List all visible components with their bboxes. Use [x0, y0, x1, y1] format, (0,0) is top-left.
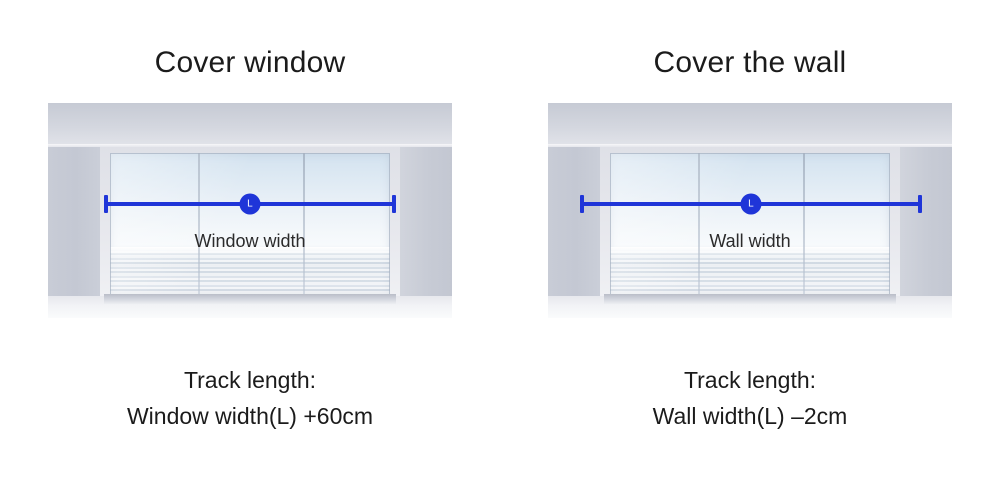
window-mullion	[198, 153, 200, 301]
panel-cover-the-wall: Cover the wall L Wall width	[500, 0, 1000, 500]
dimension-endcap-right	[918, 195, 922, 213]
dimension-label-window-width: Window width	[48, 231, 452, 252]
room-illustration-cover-window: L Window width	[48, 103, 452, 318]
window-glazing	[610, 153, 890, 301]
dimension-endcap-left	[104, 195, 108, 213]
dimension-endcap-right	[392, 195, 396, 213]
caption-cover-the-wall: Track length: Wall width(L) –2cm	[653, 363, 848, 434]
room-illustration-cover-the-wall: L Wall width	[548, 103, 952, 318]
dimension-endcap-left	[580, 195, 584, 213]
dimension-badge-l: L	[741, 194, 762, 215]
ceiling	[548, 103, 952, 147]
measurement-guide: Cover window L Window width	[0, 0, 1000, 500]
panel-cover-window: Cover window L Window width	[0, 0, 500, 500]
window-mullion	[803, 153, 805, 301]
window-mullion	[303, 153, 305, 301]
window-sill	[104, 294, 396, 304]
panel-title-cover-window: Cover window	[155, 46, 346, 79]
caption-cover-window: Track length: Window width(L) +60cm	[127, 363, 373, 434]
window-glazing	[110, 153, 390, 301]
dimension-line-wall-width: L	[580, 194, 922, 214]
caption-line-2: Wall width(L) –2cm	[653, 399, 848, 435]
window-mullion	[698, 153, 700, 301]
dimension-label-wall-width: Wall width	[548, 231, 952, 252]
caption-line-1: Track length:	[684, 367, 816, 393]
caption-line-1: Track length:	[184, 367, 316, 393]
dimension-line-window-width: L	[104, 194, 396, 214]
window-sill	[604, 294, 896, 304]
caption-line-2: Window width(L) +60cm	[127, 399, 373, 435]
dimension-badge-l: L	[240, 194, 261, 215]
ceiling	[48, 103, 452, 147]
panel-title-cover-the-wall: Cover the wall	[654, 46, 847, 79]
